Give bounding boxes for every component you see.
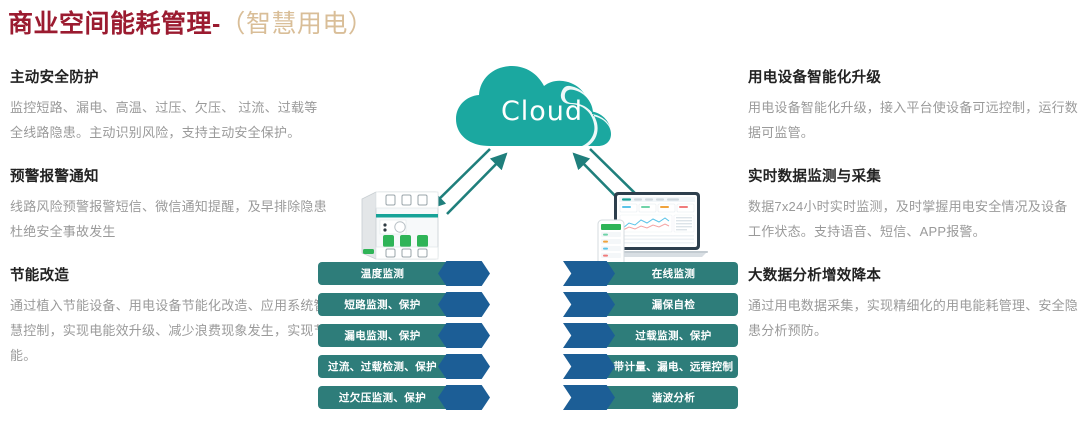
chevron-right-icon [438,354,490,379]
capability-label: 漏保自检 [652,297,696,312]
page-title-sub: （智慧用电） [220,10,373,38]
feature-heading: 预警报警通知 [10,167,330,187]
chevron-left-icon [563,292,615,317]
chevron-left-icon [563,385,615,410]
list-item[interactable]: 温度监测 [318,262,493,285]
feature-block-energy-retrofit: 节能改造 通过植入节能设备、用电设备节能化改造、应用系统智慧控制，实现电能效升级… [10,266,330,368]
feature-heading: 大数据分析增效降本 [748,266,1078,286]
page-title-main: 商业空间能耗管理 [8,10,212,38]
feature-body: 数据7x24小时实时监测，及时掌握用电安全情况及设备工作状态。支持语音、短信、A… [748,194,1078,244]
capability-label: 短路监测、保护 [344,297,420,312]
feature-heading: 实时数据监测与采集 [748,167,1078,187]
feature-heading: 主动安全防护 [10,68,330,88]
right-capability-list: 在线监测 漏保自检 过载监测、保护 带计量、漏电、远程控制 谐波分析 [563,262,738,417]
feature-body: 监控短路、漏电、高温、过压、欠压、 过流、过载等全线路隐患。主动识别风险，支持主… [10,95,330,145]
feature-block-realtime-data: 实时数据监测与采集 数据7x24小时实时监测，及时掌握用电安全情况及设备工作状态… [748,167,1078,244]
capability-label: 谐波分析 [652,390,696,405]
circuit-breaker-image [356,183,448,265]
capability-label: 带计量、漏电、远程控制 [614,359,734,374]
page-title: 商业空间能耗管理-（智慧用电） [8,4,373,40]
left-capability-list: 温度监测 短路监测、保护 漏电监测、保护 过流、过载检测、保护 过欠压监测、保护 [318,262,493,417]
chevron-left-icon [563,354,615,379]
feature-block-device-upgrade: 用电设备智能化升级 用电设备智能化升级，接入平台使设备可远控制，运行数据可监管。 [748,68,1078,145]
list-item[interactable]: 过流、过载检测、保护 [318,355,493,378]
chevron-left-icon [563,323,615,348]
chevron-right-icon [438,261,490,286]
list-item[interactable]: 漏保自检 [563,293,738,316]
left-feature-column: 主动安全防护 监控短路、漏电、高温、过压、欠压、 过流、过载等全线路隐患。主动识… [10,68,330,390]
chevron-left-icon [563,261,615,286]
laptop-dashboard-image [596,190,708,268]
list-item[interactable]: 带计量、漏电、远程控制 [563,355,738,378]
laptop-icon [596,190,708,268]
right-feature-column: 用电设备智能化升级 用电设备智能化升级，接入平台使设备可远控制，运行数据可监管。… [748,68,1078,365]
slide-root: 商业空间能耗管理-（智慧用电） 主动安全防护 监控短路、漏电、高温、过压、欠压、… [0,0,1080,444]
list-item[interactable]: 在线监测 [563,262,738,285]
feature-heading: 用电设备智能化升级 [748,68,1078,88]
feature-block-active-safety: 主动安全防护 监控短路、漏电、高温、过压、欠压、 过流、过载等全线路隐患。主动识… [10,68,330,145]
feature-body: 线路风险预警报警短信、微信通知提醒，及早排除隐患杜绝安全事故发生 [10,194,330,244]
chevron-right-icon [438,385,490,410]
chevron-right-icon [438,323,490,348]
capability-label: 在线监测 [652,266,696,281]
capability-label: 温度监测 [361,266,405,281]
capability-label: 过欠压监测、保护 [339,390,426,405]
cloud-graphic: Cloud [452,62,628,148]
list-item[interactable]: 漏电监测、保护 [318,324,493,347]
list-item[interactable]: 谐波分析 [563,386,738,409]
list-item[interactable]: 短路监测、保护 [318,293,493,316]
cloud-label: Cloud [452,62,628,148]
list-item[interactable]: 过载监测、保护 [563,324,738,347]
feature-body: 通过植入节能设备、用电设备节能化改造、应用系统智慧控制，实现电能效升级、减少浪费… [10,293,330,368]
feature-block-bigdata-analysis: 大数据分析增效降本 通过用电数据采集，实现精细化的用电能耗管理、安全隐患分析预防… [748,266,1078,343]
capability-label: 过载监测、保护 [635,328,711,343]
list-item[interactable]: 过欠压监测、保护 [318,386,493,409]
circuit-breaker-icon [356,183,448,265]
capability-label: 漏电监测、保护 [344,328,420,343]
feature-block-alarm-notify: 预警报警通知 线路风险预警报警短信、微信通知提醒，及早排除隐患杜绝安全事故发生 [10,167,330,244]
feature-body: 用电设备智能化升级，接入平台使设备可远控制，运行数据可监管。 [748,95,1078,145]
capability-label: 过流、过载检测、保护 [328,359,437,374]
feature-body: 通过用电数据采集，实现精细化的用电能耗管理、安全隐患分析预防。 [748,293,1078,343]
feature-heading: 节能改造 [10,266,330,286]
chevron-right-icon [438,292,490,317]
